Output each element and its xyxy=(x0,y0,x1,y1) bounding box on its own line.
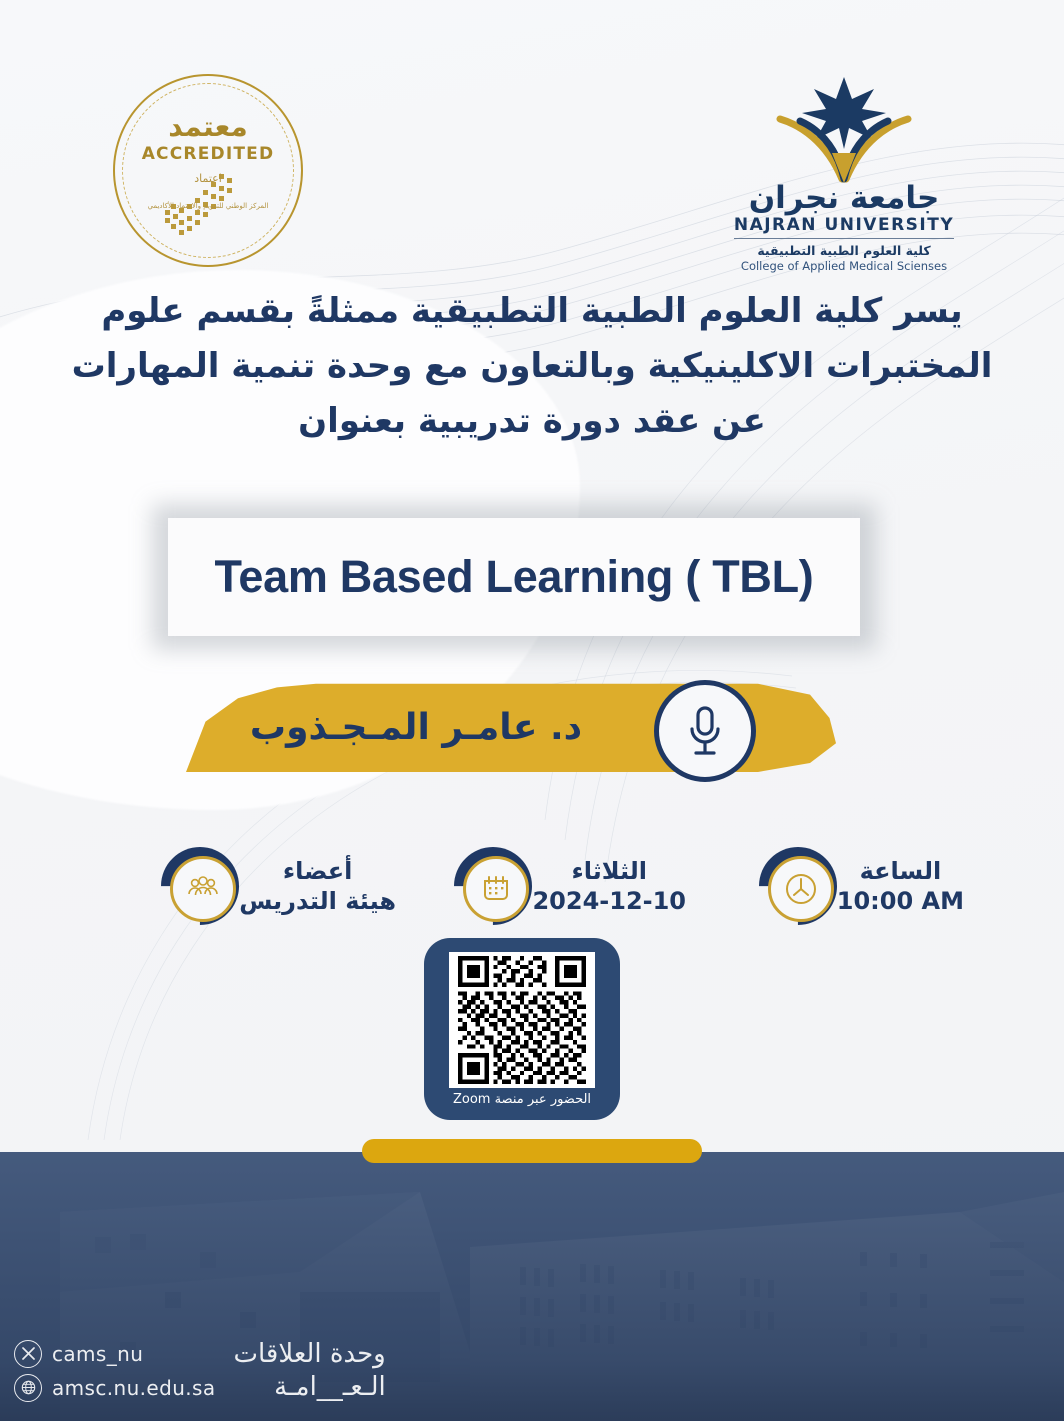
accreditation-authority: اعتماد المركز الوطني للتقويم والاعتماد ا… xyxy=(113,170,303,211)
accreditation-arabic-label: معتمد xyxy=(113,110,303,143)
gold-divider-bar xyxy=(362,1139,702,1163)
public-relations-unit: وحدة العلاقات الـعـ__امـة xyxy=(234,1338,386,1403)
info-item-audience: أعضاء هيئة التدريس xyxy=(161,836,404,936)
college-name-arabic: كلية العلوم الطبية التطبيقية xyxy=(714,243,974,258)
accreditation-english-label: ACCREDITED xyxy=(113,144,303,164)
info-icon-circle xyxy=(170,856,236,922)
info-audience-value: هيئة التدريس xyxy=(239,886,396,916)
microphone-icon xyxy=(654,680,756,782)
globe-icon[interactable] xyxy=(14,1374,42,1402)
info-item-time: الساعة 10:00 AM xyxy=(759,836,972,936)
qr-caption: الحضور عبر منصة Zoom xyxy=(453,1092,591,1107)
footer-content: cams_nu amsc.nu.edu.sa xyxy=(14,1338,386,1403)
pr-unit-line-2: الـعـ__امـة xyxy=(234,1371,386,1404)
speaker-banner: د. عامـر المـجـذوب xyxy=(186,682,836,772)
info-audience-label: أعضاء xyxy=(239,856,396,886)
pr-unit-line-1: وحدة العلاقات xyxy=(234,1338,386,1371)
college-name-english: College of Applied Medical Scienses xyxy=(714,259,974,273)
etimad-label: اعتماد xyxy=(113,172,303,185)
info-time-label: الساعة xyxy=(837,856,964,886)
authority-name: المركز الوطني للتقويم والاعتماد الأكاديم… xyxy=(113,201,303,211)
x-handle[interactable]: cams_nu xyxy=(52,1342,143,1366)
people-icon xyxy=(161,847,239,925)
university-name-arabic: جامعة نجران xyxy=(714,183,974,214)
info-icon-circle xyxy=(768,856,834,922)
event-info-row: الساعة 10:00 AM الثلاثاء 2024-12-10 xyxy=(80,836,984,936)
university-name-english: NAJRAN UNIVERSITY xyxy=(734,215,954,239)
info-time-text: الساعة 10:00 AM xyxy=(837,856,964,916)
event-poster: معتمد ACCREDITED xyxy=(0,0,1064,1421)
qr-code-panel[interactable]: الحضور عبر منصة Zoom xyxy=(424,938,620,1120)
course-title: Team Based Learning ( TBL) xyxy=(215,551,814,603)
speaker-name: د. عامـر المـجـذوب xyxy=(186,682,646,772)
x-twitter-icon[interactable] xyxy=(14,1340,42,1368)
title-card-surface: Team Based Learning ( TBL) xyxy=(168,518,860,636)
poster-footer: cams_nu amsc.nu.edu.sa xyxy=(0,1152,1064,1421)
info-date-value: 2024-12-10 xyxy=(532,886,686,916)
calendar-icon xyxy=(454,847,532,925)
course-title-card: Team Based Learning ( TBL) xyxy=(168,518,860,636)
info-date-label: الثلاثاء xyxy=(532,856,686,886)
intro-paragraph: يسر كلية العلوم الطبية التطبيقية ممثلةً … xyxy=(60,284,1004,449)
najran-university-logo: جامعة نجران NAJRAN UNIVERSITY كلية العلو… xyxy=(714,75,974,270)
accreditation-badge: معتمد ACCREDITED xyxy=(113,74,303,267)
info-date-text: الثلاثاء 2024-12-10 xyxy=(532,856,686,916)
poster-header: معتمد ACCREDITED xyxy=(0,0,1064,270)
university-emblem-icon xyxy=(714,75,974,185)
info-time-value: 10:00 AM xyxy=(837,886,964,916)
info-item-date: الثلاثاء 2024-12-10 xyxy=(454,836,694,936)
social-links: cams_nu amsc.nu.edu.sa xyxy=(14,1340,216,1402)
website-url[interactable]: amsc.nu.edu.sa xyxy=(52,1376,216,1400)
social-row-x[interactable]: cams_nu xyxy=(14,1340,216,1368)
info-audience-text: أعضاء هيئة التدريس xyxy=(239,856,396,916)
social-row-website[interactable]: amsc.nu.edu.sa xyxy=(14,1374,216,1402)
qr-code-image[interactable] xyxy=(449,952,595,1088)
clock-icon xyxy=(759,847,837,925)
